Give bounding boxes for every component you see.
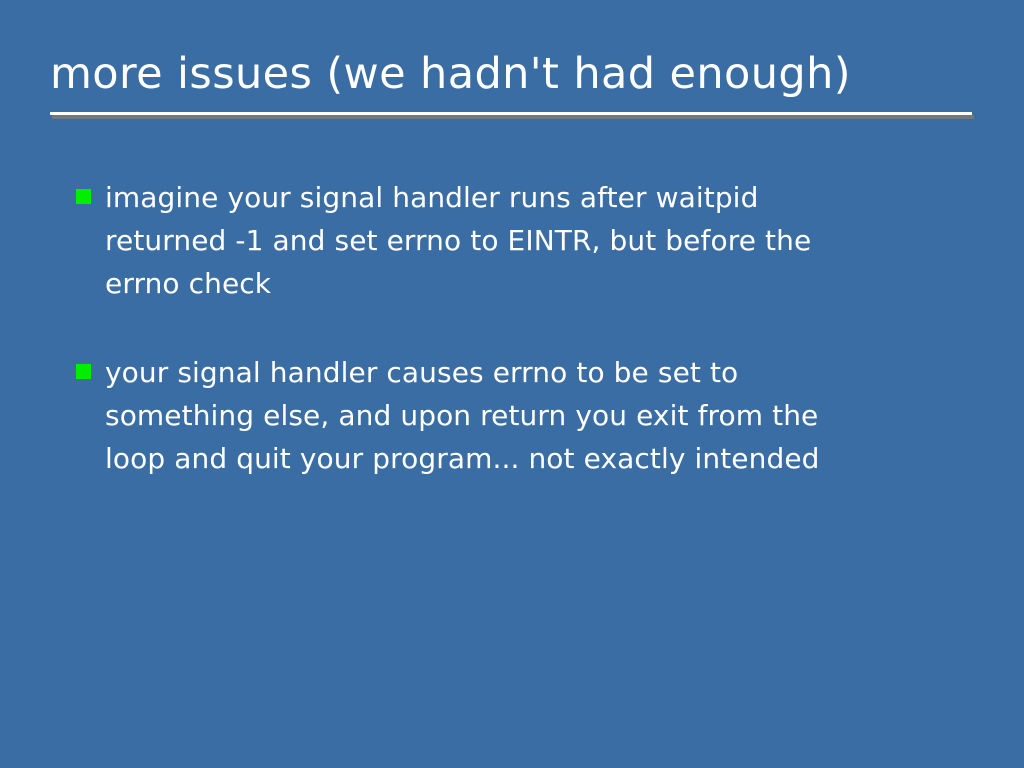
title-block: more issues (we hadn't had enough)	[50, 48, 974, 115]
list-item: imagine your signal handler runs after w…	[76, 176, 956, 305]
slide: more issues (we hadn't had enough) imagi…	[0, 0, 1024, 768]
green-square-bullet-icon	[76, 364, 91, 379]
bullet-line: imagine your signal handler runs after w…	[105, 176, 956, 219]
slide-body: imagine your signal handler runs after w…	[76, 176, 956, 480]
title-divider	[50, 112, 972, 115]
green-square-bullet-icon	[76, 189, 91, 204]
bullet-line: your signal handler causes errno to be s…	[105, 351, 956, 394]
bullet-line: returned -1 and set errno to EINTR, but …	[105, 219, 956, 262]
bullet-line: something else, and upon return you exit…	[105, 394, 956, 437]
list-item: your signal handler causes errno to be s…	[76, 351, 956, 480]
list-item-text: imagine your signal handler runs after w…	[105, 176, 956, 305]
bullet-line: loop and quit your program... not exactl…	[105, 437, 956, 480]
page-title: more issues (we hadn't had enough)	[50, 48, 974, 100]
list-item-text: your signal handler causes errno to be s…	[105, 351, 956, 480]
bullet-line: errno check	[105, 262, 956, 305]
